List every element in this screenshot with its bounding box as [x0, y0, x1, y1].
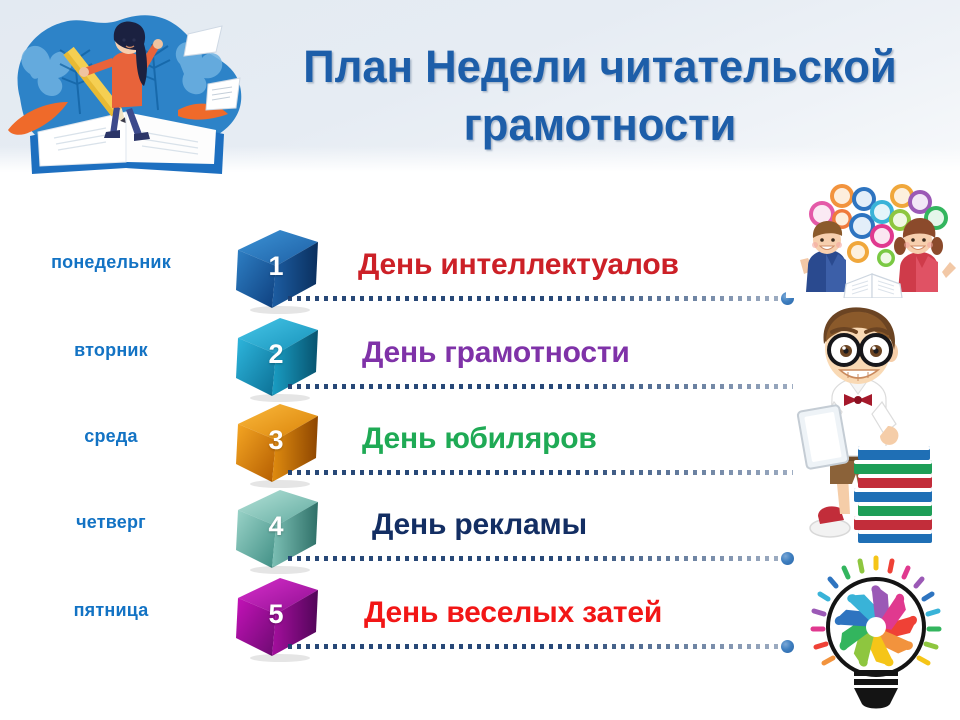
connector-line-2: [288, 380, 794, 394]
dotted-line: [288, 644, 780, 649]
day-title-monday: День интеллектуалов: [358, 242, 679, 288]
boy-with-glasses-tablet-books-illustration: [796, 302, 956, 548]
day-label-monday: понедельник: [0, 252, 222, 273]
day-label-thursday: четверг: [0, 512, 222, 533]
dotted-line: [288, 384, 793, 389]
page-title-line-2: грамотности: [265, 96, 934, 154]
girl-on-open-book-illustration: [2, 2, 254, 180]
lightbulb-colorful-hands-illustration: [800, 552, 952, 712]
two-kids-reading-book-icons-illustration: 2+2 ♪ ♫ ab: [786, 174, 958, 298]
page-title: План Недели читательской грамотности: [255, 38, 945, 154]
day-title-friday: День веселых затей: [364, 590, 662, 636]
dotted-line: [288, 556, 780, 561]
line-end-dot: [781, 640, 794, 653]
dotted-line: [288, 296, 780, 301]
page-title-line-1: План Недели читательской: [265, 38, 934, 96]
connector-line-1: [288, 292, 794, 306]
day-title-wednesday: День юбиляров: [362, 416, 597, 462]
day-title-thursday: День рекламы: [372, 502, 587, 548]
connector-line-3: [288, 466, 794, 480]
slide-canvas: План Недели читательской грамотности 2: [0, 0, 960, 720]
day-label-tuesday: вторник: [0, 340, 222, 361]
day-label-friday: пятница: [0, 600, 222, 621]
connector-line-5: [288, 640, 794, 654]
day-title-tuesday: День грамотности: [362, 330, 630, 376]
line-end-dot: [781, 552, 794, 565]
connector-line-4: [288, 552, 794, 566]
dotted-line: [288, 470, 793, 475]
day-label-wednesday: среда: [0, 426, 222, 447]
